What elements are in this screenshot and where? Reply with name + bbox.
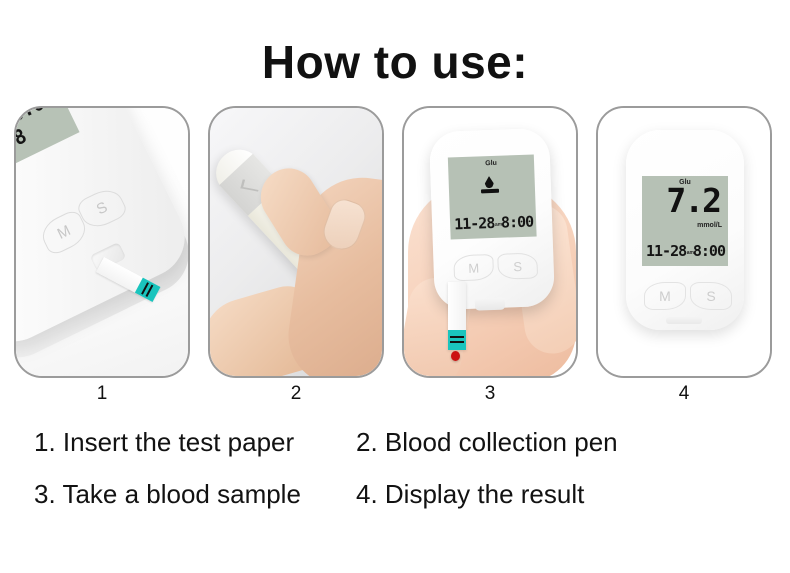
lcd-date-value: 11-28 xyxy=(646,242,686,260)
step-panel-2 xyxy=(208,106,384,378)
strip-contact-line-2 xyxy=(450,341,464,343)
lcd-time-value: 8:00 xyxy=(501,213,534,232)
lcd-glucose-value: 7.2 xyxy=(666,184,720,217)
caption-row-2: 3. Take a blood sample 4. Display the re… xyxy=(34,477,754,529)
meter-lcd-screen: Glu 11-28 am 8:00 xyxy=(448,155,537,240)
meter-memory-button[interactable]: M xyxy=(453,254,494,281)
caption-step-3: 3. Take a blood sample xyxy=(34,477,301,511)
step-panel-1: 7.2 mmol/L am 8:00 11-28 M S xyxy=(14,106,190,378)
caption-row-1: 1. Insert the test paper 2. Blood collec… xyxy=(34,425,754,477)
steps-gallery: 7.2 mmol/L am 8:00 11-28 M S xyxy=(14,106,776,380)
meter-set-button[interactable]: S xyxy=(690,282,732,310)
lcd-unit-label: mmol/L xyxy=(697,222,722,229)
page-title: How to use: xyxy=(0,36,790,88)
strip-icon xyxy=(481,189,499,194)
step-number-1: 1 xyxy=(14,383,190,405)
meter-set-button[interactable]: S xyxy=(497,252,538,279)
chevron-icon xyxy=(240,179,260,191)
test-strip-slot xyxy=(666,317,702,324)
step-panel-4: Glu 7.2 mmol/L 11-28 am 8:00 M S xyxy=(596,106,772,378)
caption-step-2: 2. Blood collection pen xyxy=(356,425,618,459)
step-number-2: 2 xyxy=(208,383,384,405)
glucose-meter-body: Glu 7.2 mmol/L 11-28 am 8:00 M S xyxy=(626,130,744,330)
step-image-4: Glu 7.2 mmol/L 11-28 am 8:00 M S xyxy=(598,108,770,376)
test-strip-slot xyxy=(475,298,505,311)
lcd-time-value: 8:00 xyxy=(16,108,58,127)
step-number-3: 3 xyxy=(402,383,578,405)
blood-drop-icon xyxy=(485,176,494,188)
test-strip[interactable] xyxy=(448,282,466,350)
lcd-date-value: 11-28 xyxy=(454,214,495,233)
strip-contact-line-1 xyxy=(450,336,464,338)
step-number-4: 4 xyxy=(596,383,772,405)
caption-step-4: 4. Display the result xyxy=(356,477,584,511)
blood-drop xyxy=(451,351,460,361)
lcd-time-value: 8:00 xyxy=(693,242,725,260)
step-image-2 xyxy=(210,108,382,376)
lcd-glu-label: Glu xyxy=(448,159,534,169)
step-image-3: Glu 11-28 am 8:00 M S xyxy=(404,108,576,376)
test-strip-tip xyxy=(448,330,466,350)
step-number-row: 1 2 3 4 xyxy=(14,383,776,409)
step-image-1: 7.2 mmol/L am 8:00 11-28 M S xyxy=(16,108,188,376)
caption-list: 1. Insert the test paper 2. Blood collec… xyxy=(34,425,754,529)
meter-memory-button[interactable]: M xyxy=(644,282,686,310)
step-panel-3: Glu 11-28 am 8:00 M S xyxy=(402,106,578,378)
meter-lcd-screen: Glu 7.2 mmol/L 11-28 am 8:00 xyxy=(642,176,728,266)
caption-step-1: 1. Insert the test paper xyxy=(34,425,294,459)
